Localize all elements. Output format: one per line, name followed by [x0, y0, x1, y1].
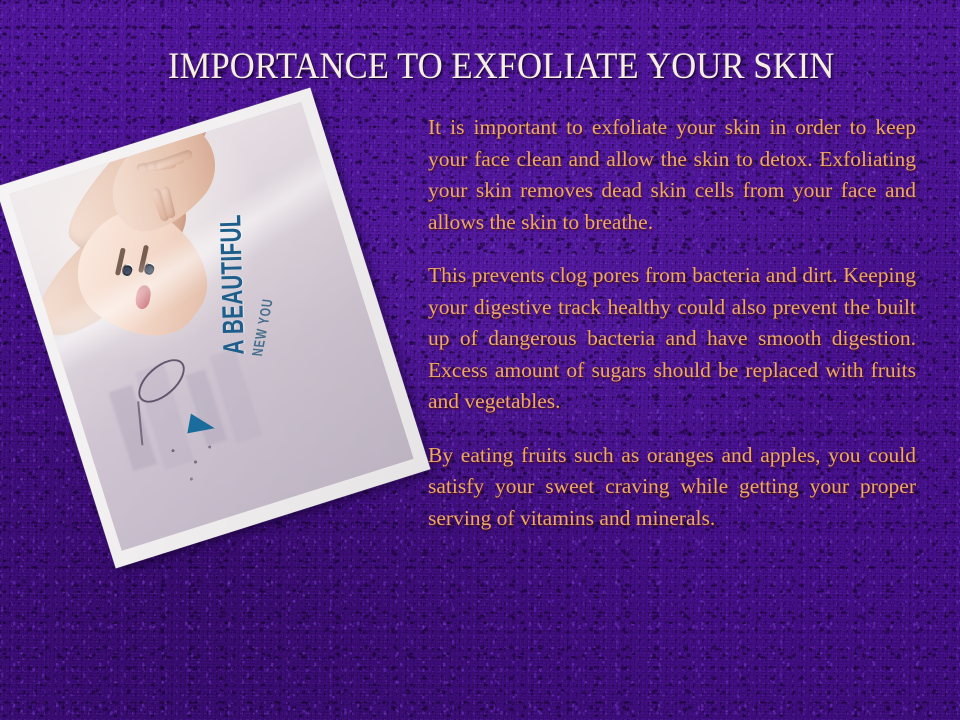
slide-title: IMPORTANCE TO EXFOLIATE YOUR SKIN	[168, 46, 789, 88]
slide-body-text: It is important to exfoliate your skin i…	[428, 112, 916, 534]
body-paragraph: This prevents clog pores from bacteria a…	[428, 260, 916, 418]
photo-headline: A BEAUTIFUL	[214, 214, 252, 355]
body-paragraph: It is important to exfoliate your skin i…	[428, 112, 916, 238]
presentation-slide: A BEAUTIFUL NEW YOU IMPORTANCE TO EXFOLI…	[0, 0, 960, 720]
body-paragraph: By eating fruits such as oranges and app…	[428, 440, 916, 535]
photo-headline-group: A BEAUTIFUL NEW YOU	[216, 183, 249, 355]
